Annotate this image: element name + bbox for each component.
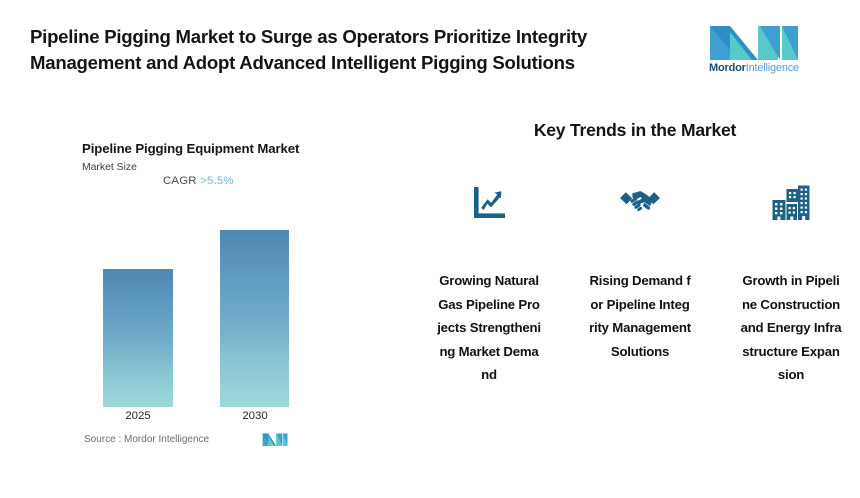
bar-label-2025: 2025 — [98, 410, 178, 422]
handshake-icon — [619, 182, 661, 224]
page-title: Pipeline Pigging Market to Surge as Oper… — [30, 24, 670, 77]
key-trends-columns: Growing Natural Gas Pipeline Projects St… — [430, 182, 850, 387]
market-size-chart-panel: Pipeline Pigging Equipment Market Market… — [0, 100, 420, 498]
trend-label: Growth in Pipeline Construction and Ener… — [739, 269, 843, 387]
brand-logo: MordorIntelligence — [700, 22, 808, 80]
trend-item: Rising Demand for Pipeline Integrity Man… — [581, 182, 699, 387]
trend-label: Rising Demand for Pipeline Integrity Man… — [588, 269, 692, 363]
trend-item: Growth in Pipeline Construction and Ener… — [732, 182, 850, 387]
header: Pipeline Pigging Market to Surge as Oper… — [0, 0, 860, 100]
source-row: Source : Mordor Intelligence — [84, 432, 304, 452]
source-mordor-m-logo-icon — [262, 432, 288, 446]
source-name: Mordor Intelligence — [124, 434, 209, 445]
mordor-m-logo-icon — [708, 22, 800, 60]
growth-chart-icon — [468, 182, 510, 224]
bar-2025 — [103, 269, 173, 407]
brand-name-light: Intelligence — [746, 62, 799, 74]
source-label: Source : — [84, 434, 121, 445]
bar-2030 — [220, 230, 289, 407]
key-trends-panel: Key Trends in the Market Growing Natural… — [420, 100, 860, 498]
trend-item: Growing Natural Gas Pipeline Projects St… — [430, 182, 548, 387]
buildings-icon — [770, 182, 812, 224]
brand-name-bold: Mordor — [709, 62, 746, 74]
trend-label: Growing Natural Gas Pipeline Projects St… — [437, 269, 541, 387]
bar-label-2030: 2030 — [215, 410, 295, 422]
source-text: Source : Mordor Intelligence — [84, 434, 209, 445]
key-trends-title: Key Trends in the Market — [420, 120, 850, 141]
brand-wordmark: MordorIntelligence — [700, 63, 808, 74]
